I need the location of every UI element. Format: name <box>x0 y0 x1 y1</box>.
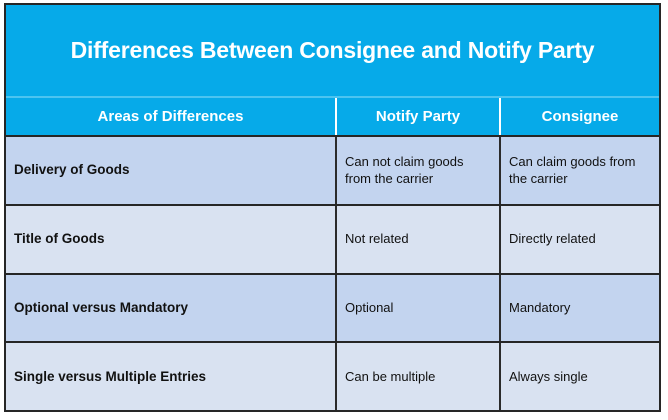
table-row: Single versus Multiple Entries Can be mu… <box>6 343 659 410</box>
cell-area: Title of Goods <box>6 206 337 273</box>
column-header-notify-party: Notify Party <box>337 98 501 135</box>
cell-notify-party: Optional <box>337 275 501 342</box>
cell-notify-party: Not related <box>337 206 501 273</box>
title-banner: Differences Between Consignee and Notify… <box>6 5 659 98</box>
column-header-consignee: Consignee <box>501 98 659 135</box>
cell-consignee: Mandatory <box>501 275 659 342</box>
page-title: Differences Between Consignee and Notify… <box>71 37 595 64</box>
cell-area: Single versus Multiple Entries <box>6 343 337 410</box>
column-header-areas-of-differences: Areas of Differences <box>6 98 337 135</box>
comparison-table: Differences Between Consignee and Notify… <box>4 3 661 412</box>
cell-consignee: Directly related <box>501 206 659 273</box>
cell-area: Delivery of Goods <box>6 137 337 204</box>
table-row: Title of Goods Not related Directly rela… <box>6 206 659 275</box>
cell-consignee: Always single <box>501 343 659 410</box>
cell-notify-party: Can be multiple <box>337 343 501 410</box>
cell-notify-party: Can not claim goods from the carrier <box>337 137 501 204</box>
cell-area: Optional versus Mandatory <box>6 275 337 342</box>
table-header-row: Areas of Differences Notify Party Consig… <box>6 98 659 137</box>
table-row: Optional versus Mandatory Optional Manda… <box>6 275 659 344</box>
table-row: Delivery of Goods Can not claim goods fr… <box>6 137 659 206</box>
cell-consignee: Can claim goods from the carrier <box>501 137 659 204</box>
